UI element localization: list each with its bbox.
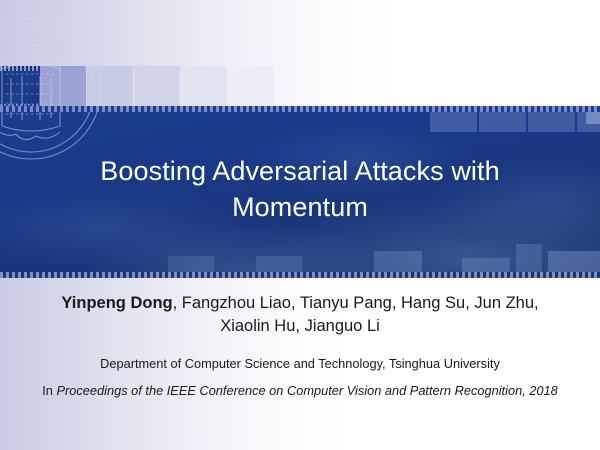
coauthor-names: , Fangzhou Liao, Tianyu Pang, Hang Su, J… [173, 294, 539, 335]
decorative-block-2 [87, 66, 133, 108]
banner-bottom-dashed-border [0, 272, 600, 278]
decorative-block-5 [228, 66, 274, 108]
banner-chip-bottom-4 [462, 258, 510, 272]
banner-chip-top-5 [586, 112, 600, 124]
banner-chip-top-3 [528, 112, 575, 132]
venue-prefix: In [42, 383, 56, 398]
banner-chip-top-1 [430, 112, 477, 132]
affiliation-line: Department of Computer Science and Techn… [30, 355, 570, 372]
presenting-author-name: Yinpeng Dong [61, 294, 172, 312]
decorative-block-3 [134, 66, 180, 108]
decorative-block-1 [40, 66, 86, 108]
decorative-navy-block [0, 66, 40, 108]
slide-title-line-1: Boosting Adversarial Attacks with [70, 154, 530, 190]
banner-chip-top-2 [479, 112, 526, 132]
decorative-block-4 [181, 66, 227, 108]
author-list: Yinpeng Dong, Fangzhou Liao, Tianyu Pang… [40, 292, 560, 339]
venue-line: In Proceedings of the IEEE Conference on… [35, 381, 565, 400]
banner-chip-bottom-1 [168, 256, 214, 272]
slide-title: Boosting Adversarial Attacks with Moment… [70, 154, 530, 226]
banner-chip-bottom-3 [374, 251, 422, 272]
decorative-block-row [0, 66, 600, 108]
banner-chip-bottom-2 [256, 256, 302, 272]
banner-chip-bottom-5 [516, 244, 542, 272]
banner-chip-bottom-6 [548, 251, 600, 272]
banner-top-dashed-border [0, 106, 600, 112]
venue-publication-title: Proceedings of the IEEE Conference on Co… [56, 383, 557, 398]
presentation-slide: TSINGHUA UNIVERSITY Boosting Adversarial… [0, 0, 600, 450]
slide-title-line-2: Momentum [70, 190, 530, 226]
